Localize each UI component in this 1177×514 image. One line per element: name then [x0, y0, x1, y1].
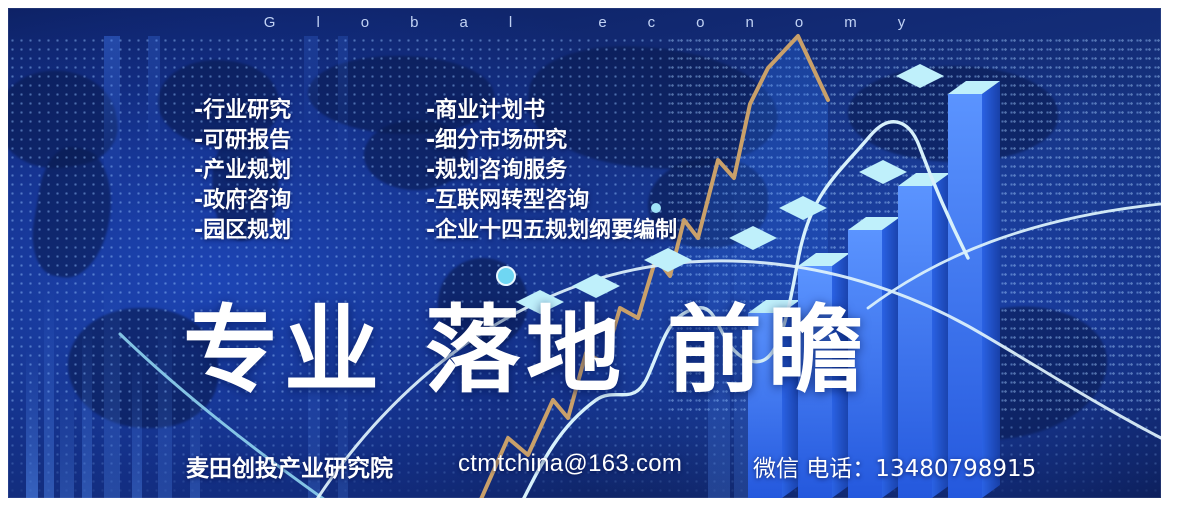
economic-growth-chart [8, 8, 1161, 498]
service-item: -可研报告 [194, 126, 291, 156]
service-item: -行业研究 [194, 96, 291, 126]
service-item: -产业规划 [194, 156, 291, 186]
service-item: -园区规划 [194, 216, 291, 246]
service-item: -规划咨询服务 [426, 156, 677, 186]
headline-word-3: 前瞻 [667, 296, 869, 406]
phone-contact: 微信 电话：13480798915 [753, 449, 1036, 483]
header-global-economy: Global economy [8, 14, 1161, 31]
service-item: -互联网转型咨询 [426, 186, 677, 216]
banner-frame: Global economy -行业研究 -可研报告 -产业规划 -政府咨询 -… [0, 0, 1177, 514]
service-item: -政府咨询 [194, 186, 291, 216]
headline-word-1: 专业 [183, 296, 385, 406]
email-address[interactable]: ctmtchina@163.com [458, 450, 682, 478]
footer-contact-bar: 麦田创投产业研究院 ctmtchina@163.com 微信 电话：134807… [8, 448, 1161, 488]
service-list-left: -行业研究 -可研报告 -产业规划 -政府咨询 -园区规划 [194, 96, 291, 246]
service-list-right: -商业计划书 -细分市场研究 -规划咨询服务 -互联网转型咨询 -企业十四五规划… [426, 96, 677, 246]
bar-item [948, 81, 1000, 498]
service-item: -企业十四五规划纲要编制 [426, 216, 677, 246]
organization-name: 麦田创投产业研究院 [186, 449, 393, 483]
headline-slogan: 专业落地前瞻 [183, 304, 869, 399]
promotional-banner: Global economy -行业研究 -可研报告 -产业规划 -政府咨询 -… [8, 8, 1161, 498]
headline-word-2: 落地 [425, 296, 627, 406]
service-item: -细分市场研究 [426, 126, 677, 156]
service-item: -商业计划书 [426, 96, 677, 126]
